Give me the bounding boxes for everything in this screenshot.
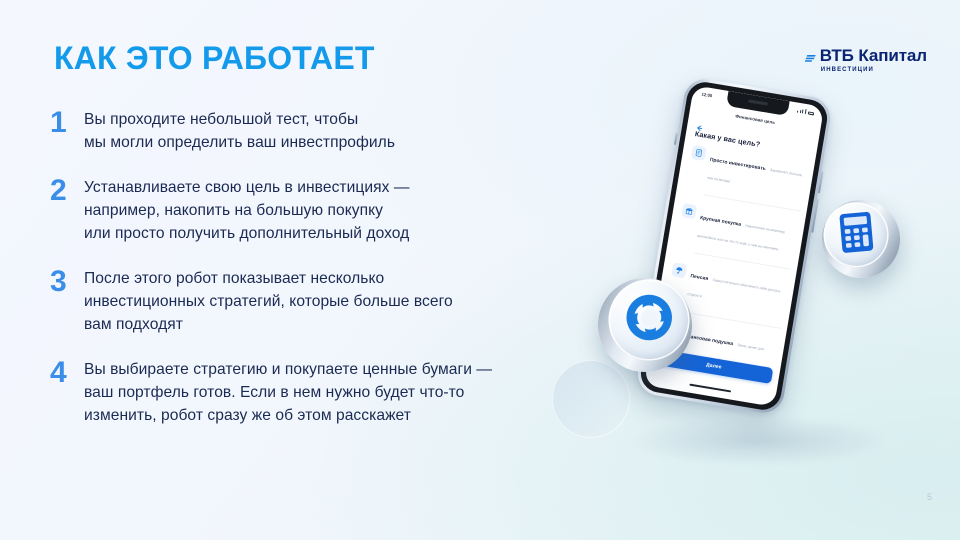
goal-title: Крупная покупка — [700, 216, 742, 228]
slide-canvas: КАК ЭТО РАБОТАЕТ ВТБ Капитал инвестиции … — [0, 0, 960, 540]
step-text-line: изменить, робот сразу же об этом расскаж… — [84, 404, 492, 427]
goal-item-invest[interactable]: Просто инвестировать Заработать больше, … — [687, 144, 808, 199]
step-text-line: или просто получить дополнительный доход — [84, 222, 409, 245]
goal-description: Накопление на квартиру, автомобиль или н… — [697, 224, 786, 252]
step-text: Вы выбираете стратегию и покупаете ценны… — [84, 358, 492, 427]
step-text-line: мы могли определить ваш инвестпрофиль — [84, 131, 395, 154]
goal-text: Просто инвестировать Заработать больше, … — [706, 147, 809, 199]
signal-icon — [802, 109, 804, 113]
goal-item-big-purchase[interactable]: Крупная покупка Накопление на квартиру, … — [677, 202, 798, 257]
page-title: КАК ЭТО РАБОТАЕТ — [54, 42, 375, 76]
steps-list: 1 Вы проходите небольшой тест, чтобы мы … — [50, 108, 590, 449]
phone-shadow — [632, 418, 882, 464]
status-icons — [797, 108, 815, 116]
goal-title: Пенсия — [690, 275, 709, 283]
background-disc-decoration — [552, 360, 630, 438]
step-item-1: 1 Вы проходите небольшой тест, чтобы мы … — [50, 108, 590, 154]
home-indicator — [689, 383, 731, 392]
phone-volume-button — [818, 171, 824, 193]
step-text: Вы проходите небольшой тест, чтобы мы мо… — [84, 108, 395, 154]
phone-artwork: 12:00 Финансовая цель — [560, 60, 960, 530]
step-number: 4 — [50, 358, 84, 387]
gift-icon — [681, 203, 697, 219]
step-item-2: 2 Устанавливаете свою цель в инвестициях… — [50, 176, 590, 245]
signal-icon — [799, 110, 800, 113]
next-button-label: Далее — [706, 362, 722, 370]
step-number: 3 — [50, 267, 84, 296]
step-text-line: например, накопить на большую покупку — [84, 199, 409, 222]
umbrella-icon — [671, 262, 687, 278]
step-text-line: Вы проходите небольшой тест, чтобы — [84, 108, 395, 131]
step-text-line: вам подходят — [84, 313, 453, 336]
lifebuoy-icon — [620, 289, 678, 351]
page-number: 5 — [927, 492, 932, 502]
step-text: После этого робот показывает несколько и… — [84, 267, 453, 336]
step-text-line: Вы выбираете стратегию и покупаете ценны… — [84, 358, 492, 381]
step-number: 1 — [50, 108, 84, 137]
wifi-icon — [804, 109, 806, 114]
signal-icon — [797, 111, 798, 113]
step-number: 2 — [50, 176, 84, 205]
step-item-3: 3 После этого робот показывает несколько… — [50, 267, 590, 336]
status-time: 12:00 — [701, 92, 712, 99]
step-text: Устанавливаете свою цель в инвестициях —… — [84, 176, 409, 245]
phone-mute-switch — [674, 133, 678, 145]
document-icon — [691, 145, 707, 161]
battery-icon — [808, 111, 814, 115]
goal-text: Крупная покупка Накопление на квартиру, … — [696, 206, 799, 258]
step-text-line: инвестиционных стратегий, которые больше… — [84, 290, 453, 313]
goal-text: Пенсия Самостоятельно обеспечить себе до… — [686, 264, 789, 316]
step-item-4: 4 Вы выбираете стратегию и покупаете цен… — [50, 358, 590, 427]
step-text-line: Устанавливаете свою цель в инвестициях — — [84, 176, 409, 199]
step-text-line: ваш портфель готов. Если в нем нужно буд… — [84, 381, 492, 404]
app-nav-title: Финансовая цель — [735, 113, 776, 125]
goal-title: Просто инвестировать — [709, 157, 766, 171]
calculator-icon — [837, 210, 875, 260]
calculator-badge — [819, 197, 904, 282]
step-text-line: После этого робот показывает несколько — [84, 267, 453, 290]
